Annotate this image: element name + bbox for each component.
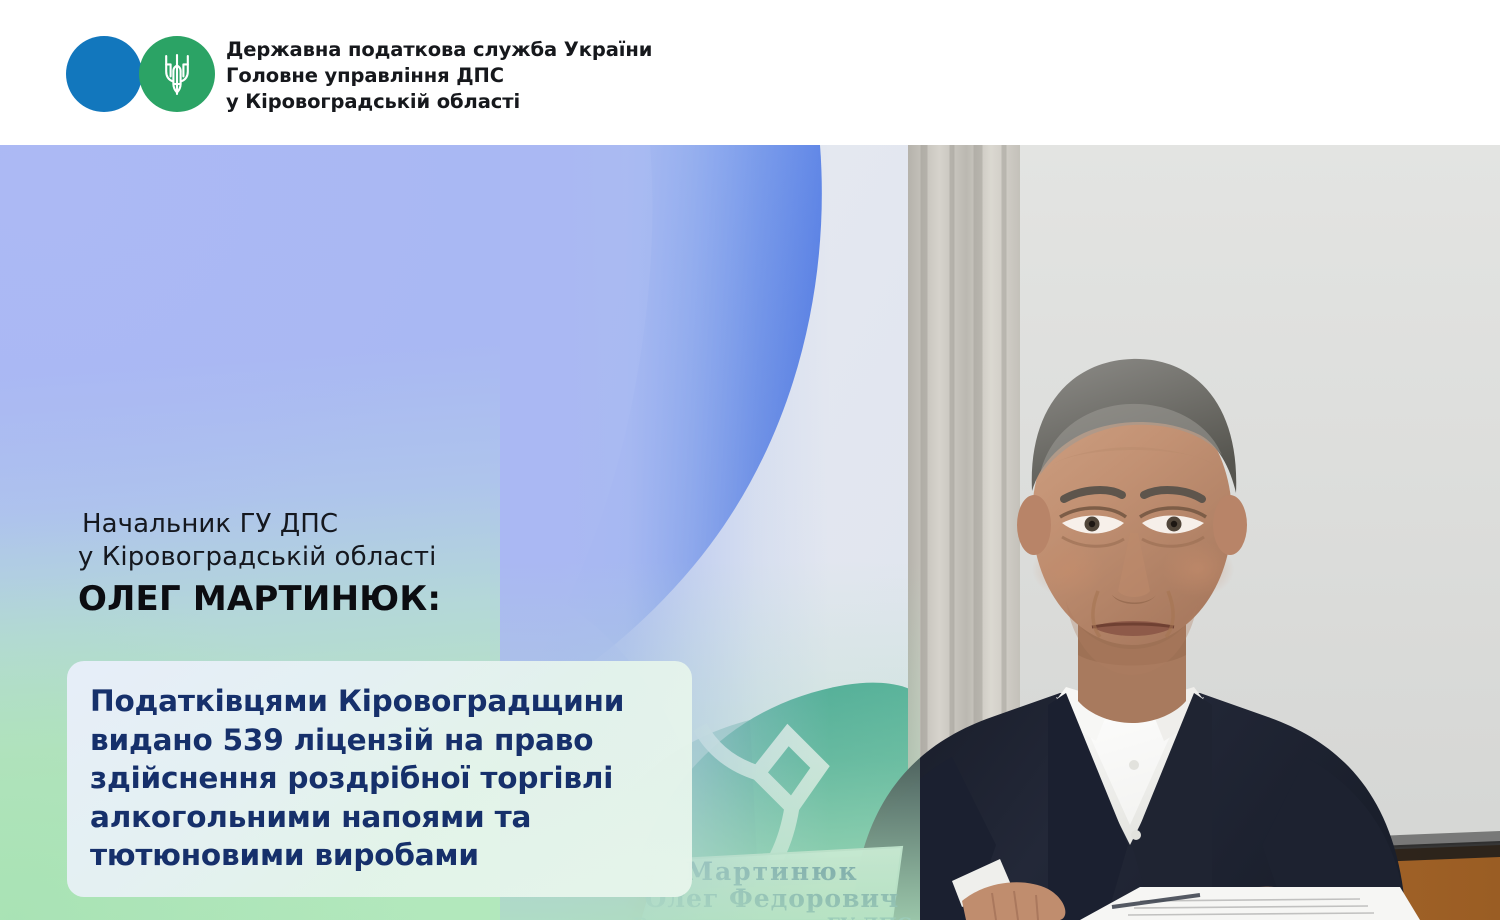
ukraine-trident-icon — [139, 36, 215, 112]
poster-root: Державна податкова служба України Головн… — [0, 0, 1500, 920]
agency-name-line-2: Головне управління ДПС — [226, 63, 652, 89]
page-header: Державна податкова служба України Головн… — [0, 0, 1500, 145]
headline-block: Начальник ГУ ДПС у Кіровоградській облас… — [78, 508, 441, 620]
header-branding: Державна податкова служба України Головн… — [66, 36, 652, 115]
quote-card: Податківцями Кіровоградщини видано 539 л… — [67, 661, 692, 897]
headline-kicker-line-2: у Кіровоградській області — [78, 541, 441, 574]
headline-kicker-line-1: Начальник ГУ ДПС — [78, 508, 441, 541]
agency-logo — [66, 36, 210, 114]
logo-blue-circle-icon — [66, 36, 142, 112]
svg-text:В. о. начальника ГУ ДПС: В. о. начальника ГУ ДПС — [632, 914, 912, 920]
quote-text: Податківцями Кіровоградщини видано 539 л… — [90, 682, 668, 875]
svg-text:Мартинюк: Мартинюк — [685, 857, 858, 886]
poster-stage: Мартинюк Олег Федорович В. о. начальника… — [0, 145, 1500, 920]
agency-name-line-3: у Кіровоградській області — [226, 89, 652, 115]
official-name: ОЛЕГ МАРТИНЮК: — [78, 578, 441, 620]
agency-name-line-1: Державна податкова служба України — [226, 37, 652, 63]
header-text-block: Державна податкова служба України Головн… — [226, 36, 652, 115]
